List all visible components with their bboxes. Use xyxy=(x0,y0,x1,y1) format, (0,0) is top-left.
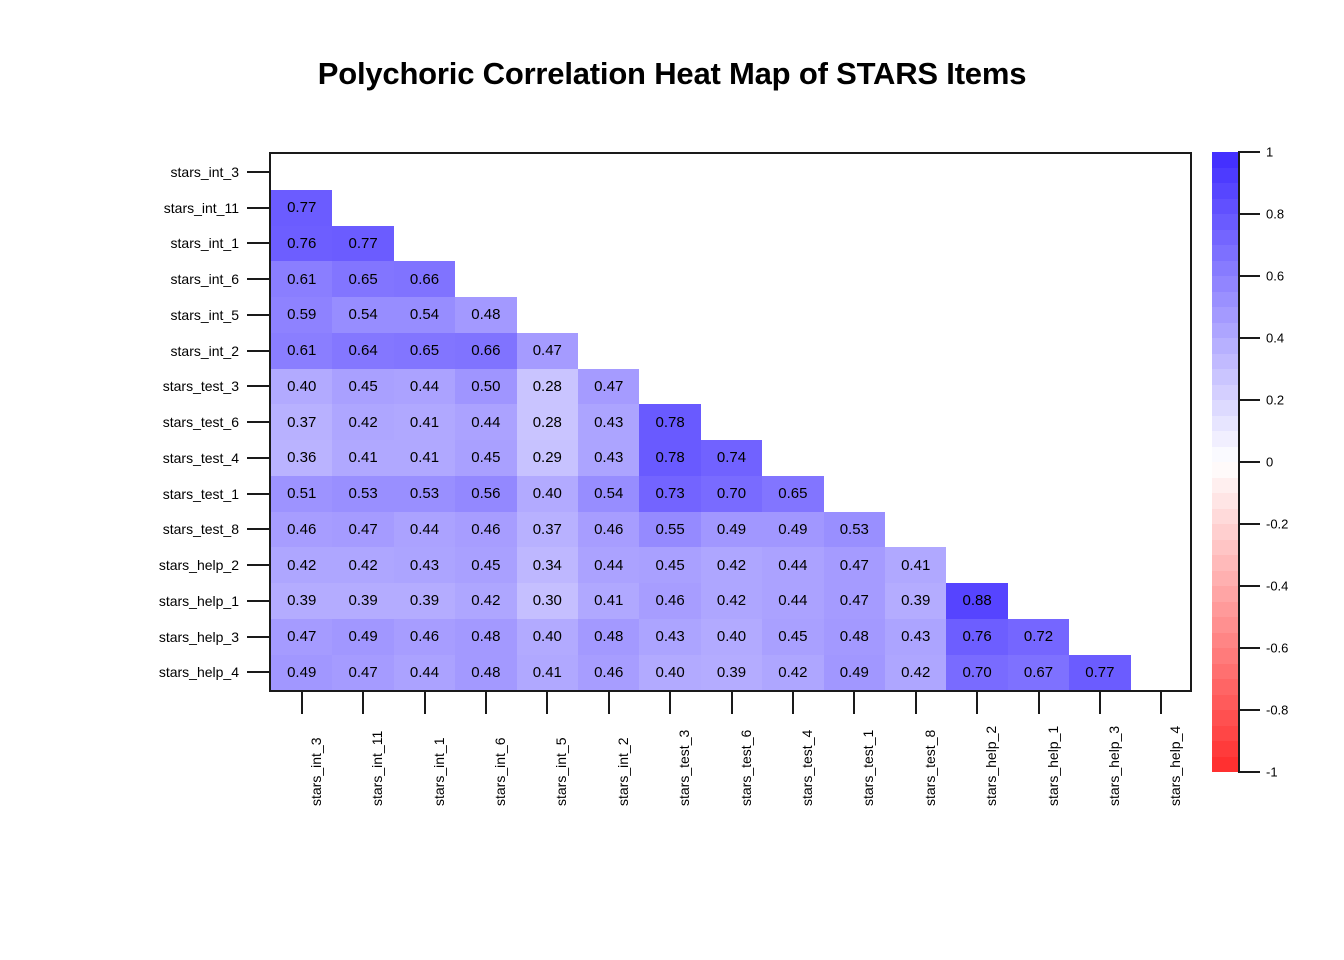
heatmap-cell: 0.45 xyxy=(455,547,516,583)
colorbar-tick xyxy=(1238,523,1260,525)
heatmap-cell: 0.36 xyxy=(271,440,332,476)
heatmap-cell: 0.44 xyxy=(394,512,455,548)
page-title: Polychoric Correlation Heat Map of STARS… xyxy=(0,56,1344,92)
heatmap-cell: 0.65 xyxy=(762,476,823,512)
heatmap-cell: 0.46 xyxy=(455,512,516,548)
colorbar-tick xyxy=(1238,771,1260,773)
heatmap-cell: 0.42 xyxy=(332,547,393,583)
y-axis-label: stars_test_6 xyxy=(0,414,239,430)
y-axis-label: stars_help_1 xyxy=(0,593,239,609)
x-axis-label: stars_int_5 xyxy=(553,738,569,806)
heatmap-cell: 0.70 xyxy=(946,655,1007,691)
colorbar-segment xyxy=(1212,664,1238,681)
heatmap-cell: 0.39 xyxy=(885,583,946,619)
colorbar-tick-label: -0.4 xyxy=(1266,579,1288,594)
colorbar-segment xyxy=(1212,307,1238,324)
heatmap-cell: 0.49 xyxy=(701,512,762,548)
y-axis-label: stars_help_4 xyxy=(0,664,239,680)
heatmap-cell: 0.55 xyxy=(639,512,700,548)
x-axis-tick xyxy=(731,692,733,714)
colorbar-segment xyxy=(1212,602,1238,619)
heatmap-cell: 0.47 xyxy=(517,333,578,369)
heatmap-cell: 0.42 xyxy=(332,404,393,440)
y-axis-tick xyxy=(247,350,269,352)
heatmap-cell: 0.47 xyxy=(271,619,332,655)
heatmap-cell: 0.78 xyxy=(639,404,700,440)
colorbar-segment xyxy=(1212,276,1238,293)
heatmap-cell: 0.41 xyxy=(517,655,578,691)
x-axis-tick xyxy=(853,692,855,714)
heatmap-cell: 0.42 xyxy=(885,655,946,691)
heatmap-cell: 0.47 xyxy=(332,655,393,691)
heatmap-cell: 0.43 xyxy=(578,440,639,476)
y-axis-label: stars_help_3 xyxy=(0,629,239,645)
heatmap-cell: 0.42 xyxy=(455,583,516,619)
heatmap-cell: 0.40 xyxy=(517,476,578,512)
colorbar-segment xyxy=(1212,493,1238,510)
x-axis-label: stars_test_4 xyxy=(799,730,815,806)
colorbar-segment xyxy=(1212,540,1238,557)
y-axis-label: stars_test_4 xyxy=(0,450,239,466)
colorbar-segment xyxy=(1212,168,1238,185)
y-axis-label: stars_help_2 xyxy=(0,557,239,573)
x-axis-tick xyxy=(608,692,610,714)
x-axis-tick xyxy=(1038,692,1040,714)
y-axis-tick xyxy=(247,385,269,387)
x-axis-label: stars_int_1 xyxy=(431,738,447,806)
x-axis-tick xyxy=(424,692,426,714)
heatmap-cell: 0.49 xyxy=(762,512,823,548)
y-axis-label: stars_int_3 xyxy=(0,164,239,180)
colorbar-segment xyxy=(1212,199,1238,216)
heatmap-cell: 0.30 xyxy=(517,583,578,619)
colorbar-segment xyxy=(1212,462,1238,479)
colorbar-segment xyxy=(1212,571,1238,588)
colorbar-segment xyxy=(1212,757,1238,773)
y-axis-label: stars_test_8 xyxy=(0,521,239,537)
heatmap-cell: 0.47 xyxy=(824,583,885,619)
heatmap-cell: 0.40 xyxy=(701,619,762,655)
colorbar-segment xyxy=(1212,648,1238,665)
heatmap-cell: 0.39 xyxy=(701,655,762,691)
heatmap-cell: 0.29 xyxy=(517,440,578,476)
heatmap-cell: 0.41 xyxy=(578,583,639,619)
x-axis-tick xyxy=(976,692,978,714)
y-axis-tick xyxy=(247,457,269,459)
y-axis-label: stars_test_3 xyxy=(0,378,239,394)
colorbar-tick xyxy=(1238,647,1260,649)
colorbar-segment xyxy=(1212,416,1238,433)
heatmap-cell: 0.49 xyxy=(332,619,393,655)
colorbar-segment xyxy=(1212,431,1238,448)
heatmap-cell: 0.76 xyxy=(946,619,1007,655)
colorbar-segment xyxy=(1212,354,1238,371)
heatmap-cell: 0.46 xyxy=(394,619,455,655)
x-axis-label: stars_int_6 xyxy=(492,738,508,806)
heatmap-cell: 0.46 xyxy=(639,583,700,619)
colorbar-tick-label: 1 xyxy=(1266,145,1273,160)
x-axis-label: stars_int_2 xyxy=(615,738,631,806)
heatmap-cell: 0.44 xyxy=(762,547,823,583)
heatmap-cell: 0.48 xyxy=(455,655,516,691)
y-axis-tick xyxy=(247,171,269,173)
x-axis-tick xyxy=(546,692,548,714)
y-axis-tick xyxy=(247,242,269,244)
colorbar-segment xyxy=(1212,400,1238,417)
heatmap-cell: 0.37 xyxy=(271,404,332,440)
heatmap-cell: 0.49 xyxy=(824,655,885,691)
y-axis-label: stars_int_11 xyxy=(0,200,239,216)
heatmap-cell: 0.44 xyxy=(578,547,639,583)
colorbar-tick-label: -0.8 xyxy=(1266,703,1288,718)
y-axis-tick xyxy=(247,564,269,566)
heatmap-cell: 0.42 xyxy=(701,583,762,619)
colorbar-tick-label: -0.6 xyxy=(1266,641,1288,656)
colorbar-segment xyxy=(1212,183,1238,200)
y-axis-label: stars_int_1 xyxy=(0,235,239,251)
x-axis-label: stars_int_11 xyxy=(369,731,385,806)
heatmap-cell: 0.41 xyxy=(394,440,455,476)
heatmap-cell: 0.43 xyxy=(885,619,946,655)
heatmap-cell: 0.43 xyxy=(578,404,639,440)
colorbar-segment xyxy=(1212,292,1238,309)
heatmap-cell: 0.44 xyxy=(455,404,516,440)
heatmap-cell: 0.76 xyxy=(271,226,332,262)
x-axis-label: stars_help_2 xyxy=(983,726,999,806)
colorbar-segment xyxy=(1212,245,1238,262)
y-axis-tick xyxy=(247,671,269,673)
heatmap-cell: 0.70 xyxy=(701,476,762,512)
heatmap-cell: 0.41 xyxy=(394,404,455,440)
x-axis-label: stars_int_3 xyxy=(308,738,324,806)
heatmap-cell: 0.47 xyxy=(332,512,393,548)
heatmap-cell: 0.40 xyxy=(639,655,700,691)
heatmap-cell: 0.66 xyxy=(455,333,516,369)
heatmap-cell: 0.67 xyxy=(1008,655,1069,691)
y-axis-tick xyxy=(247,278,269,280)
heatmap-cell: 0.43 xyxy=(639,619,700,655)
x-axis-label: stars_test_8 xyxy=(922,730,938,806)
y-axis-tick xyxy=(247,636,269,638)
colorbar-segment xyxy=(1212,261,1238,278)
heatmap-cell: 0.44 xyxy=(394,369,455,405)
colorbar-segment xyxy=(1212,509,1238,526)
heatmap-cell: 0.66 xyxy=(394,261,455,297)
colorbar-segment xyxy=(1212,478,1238,495)
heatmap-cell: 0.37 xyxy=(517,512,578,548)
colorbar-tick xyxy=(1238,585,1260,587)
colorbar-segment xyxy=(1212,710,1238,727)
heatmap-cell: 0.65 xyxy=(332,261,393,297)
heatmap-cell: 0.41 xyxy=(332,440,393,476)
x-axis-tick xyxy=(485,692,487,714)
heatmap-cell: 0.48 xyxy=(455,619,516,655)
colorbar-tick-label: 0 xyxy=(1266,455,1273,470)
heatmap-cell: 0.47 xyxy=(578,369,639,405)
colorbar-segment xyxy=(1212,152,1238,169)
heatmap-cell: 0.74 xyxy=(701,440,762,476)
colorbar-segment xyxy=(1212,338,1238,355)
colorbar-tick xyxy=(1238,709,1260,711)
heatmap-cell: 0.46 xyxy=(578,655,639,691)
colorbar-segment xyxy=(1212,741,1238,758)
heatmap-cell: 0.42 xyxy=(271,547,332,583)
heatmap-cell: 0.44 xyxy=(762,583,823,619)
colorbar-segment xyxy=(1212,524,1238,541)
colorbar-segment xyxy=(1212,369,1238,386)
colorbar-tick xyxy=(1238,151,1260,153)
heatmap-cell: 0.48 xyxy=(824,619,885,655)
heatmap-cell: 0.54 xyxy=(394,297,455,333)
heatmap-cell: 0.72 xyxy=(1008,619,1069,655)
colorbar-segment xyxy=(1212,586,1238,603)
colorbar-tick-label: 0.4 xyxy=(1266,331,1284,346)
x-axis-label: stars_test_6 xyxy=(738,730,754,806)
heatmap-cell: 0.53 xyxy=(394,476,455,512)
heatmap-cell: 0.46 xyxy=(578,512,639,548)
heatmap-cell: 0.43 xyxy=(394,547,455,583)
colorbar-segment xyxy=(1212,214,1238,231)
heatmap-cell: 0.61 xyxy=(271,333,332,369)
heatmap-cell: 0.49 xyxy=(271,655,332,691)
colorbar-segment xyxy=(1212,447,1238,464)
colorbar-tick xyxy=(1238,213,1260,215)
heatmap-cell: 0.28 xyxy=(517,369,578,405)
heatmap-cell: 0.53 xyxy=(332,476,393,512)
y-axis-tick xyxy=(247,600,269,602)
y-axis-label: stars_test_1 xyxy=(0,486,239,502)
colorbar-segment xyxy=(1212,323,1238,340)
heatmap-cell: 0.45 xyxy=(762,619,823,655)
heatmap-cell: 0.42 xyxy=(701,547,762,583)
x-axis-tick xyxy=(1160,692,1162,714)
x-axis-tick xyxy=(362,692,364,714)
heatmap-cell: 0.48 xyxy=(578,619,639,655)
x-axis-label: stars_help_3 xyxy=(1106,726,1122,806)
x-axis-tick xyxy=(792,692,794,714)
y-axis-tick xyxy=(247,528,269,530)
x-axis-label: stars_help_1 xyxy=(1045,726,1061,806)
colorbar-tick-label: -1 xyxy=(1266,765,1278,780)
heatmap-cell: 0.77 xyxy=(332,226,393,262)
heatmap-cell: 0.64 xyxy=(332,333,393,369)
heatmap-cell: 0.39 xyxy=(271,583,332,619)
x-axis-label: stars_test_3 xyxy=(676,730,692,806)
colorbar-tick xyxy=(1238,275,1260,277)
colorbar-segment xyxy=(1212,617,1238,634)
heatmap-cell: 0.39 xyxy=(332,583,393,619)
y-axis-tick xyxy=(247,314,269,316)
colorbar-segment xyxy=(1212,679,1238,696)
heatmap-cell: 0.51 xyxy=(271,476,332,512)
heatmap-cell: 0.42 xyxy=(762,655,823,691)
colorbar-tick xyxy=(1238,461,1260,463)
heatmap-cell: 0.48 xyxy=(455,297,516,333)
heatmap-cell: 0.44 xyxy=(394,655,455,691)
heatmap-cell: 0.40 xyxy=(271,369,332,405)
heatmap-cell: 0.45 xyxy=(455,440,516,476)
heatmap-cell: 0.50 xyxy=(455,369,516,405)
heatmap-cell: 0.45 xyxy=(332,369,393,405)
heatmap-cell: 0.77 xyxy=(271,190,332,226)
colorbar-tick-label: 0.6 xyxy=(1266,269,1284,284)
heatmap-cell: 0.61 xyxy=(271,261,332,297)
colorbar-tick xyxy=(1238,337,1260,339)
colorbar-segment xyxy=(1212,555,1238,572)
x-axis-tick xyxy=(669,692,671,714)
x-axis-label: stars_help_4 xyxy=(1167,726,1183,806)
x-axis-label: stars_test_1 xyxy=(860,730,876,806)
heatmap-cell: 0.45 xyxy=(639,547,700,583)
heatmap-cell: 0.77 xyxy=(1069,655,1130,691)
x-axis-tick xyxy=(915,692,917,714)
heatmap-cell: 0.34 xyxy=(517,547,578,583)
heatmap-cell: 0.53 xyxy=(824,512,885,548)
y-axis-tick xyxy=(247,493,269,495)
heatmap-cell: 0.40 xyxy=(517,619,578,655)
y-axis-label: stars_int_6 xyxy=(0,271,239,287)
colorbar-segment xyxy=(1212,633,1238,650)
colorbar-tick xyxy=(1238,399,1260,401)
heatmap-cell: 0.28 xyxy=(517,404,578,440)
colorbar-tick-label: -0.2 xyxy=(1266,517,1288,532)
heatmap-cell: 0.54 xyxy=(332,297,393,333)
heatmap-cell: 0.59 xyxy=(271,297,332,333)
heatmap-cell: 0.41 xyxy=(885,547,946,583)
y-axis-label: stars_int_2 xyxy=(0,343,239,359)
colorbar-segment xyxy=(1212,385,1238,402)
heatmap-cell: 0.39 xyxy=(394,583,455,619)
heatmap-cell: 0.65 xyxy=(394,333,455,369)
x-axis-tick xyxy=(1099,692,1101,714)
y-axis-label: stars_int_5 xyxy=(0,307,239,323)
heatmap-cell: 0.46 xyxy=(271,512,332,548)
heatmap-cell: 0.54 xyxy=(578,476,639,512)
x-axis-tick xyxy=(301,692,303,714)
heatmap-cell: 0.47 xyxy=(824,547,885,583)
colorbar-segment xyxy=(1212,726,1238,743)
heatmap-cell: 0.73 xyxy=(639,476,700,512)
colorbar-segment xyxy=(1212,230,1238,247)
chart-canvas: Polychoric Correlation Heat Map of STARS… xyxy=(0,0,1344,960)
y-axis-tick xyxy=(247,421,269,423)
colorbar-tick-label: 0.8 xyxy=(1266,207,1284,222)
heatmap-cell-layer: 0.770.760.770.610.650.660.590.540.540.48… xyxy=(271,154,1190,690)
colorbar-gradient xyxy=(1212,152,1238,772)
colorbar-tick-label: 0.2 xyxy=(1266,393,1284,408)
heatmap-cell: 0.78 xyxy=(639,440,700,476)
heatmap-cell: 0.56 xyxy=(455,476,516,512)
colorbar-segment xyxy=(1212,695,1238,712)
y-axis-tick xyxy=(247,207,269,209)
heatmap-cell: 0.88 xyxy=(946,583,1007,619)
